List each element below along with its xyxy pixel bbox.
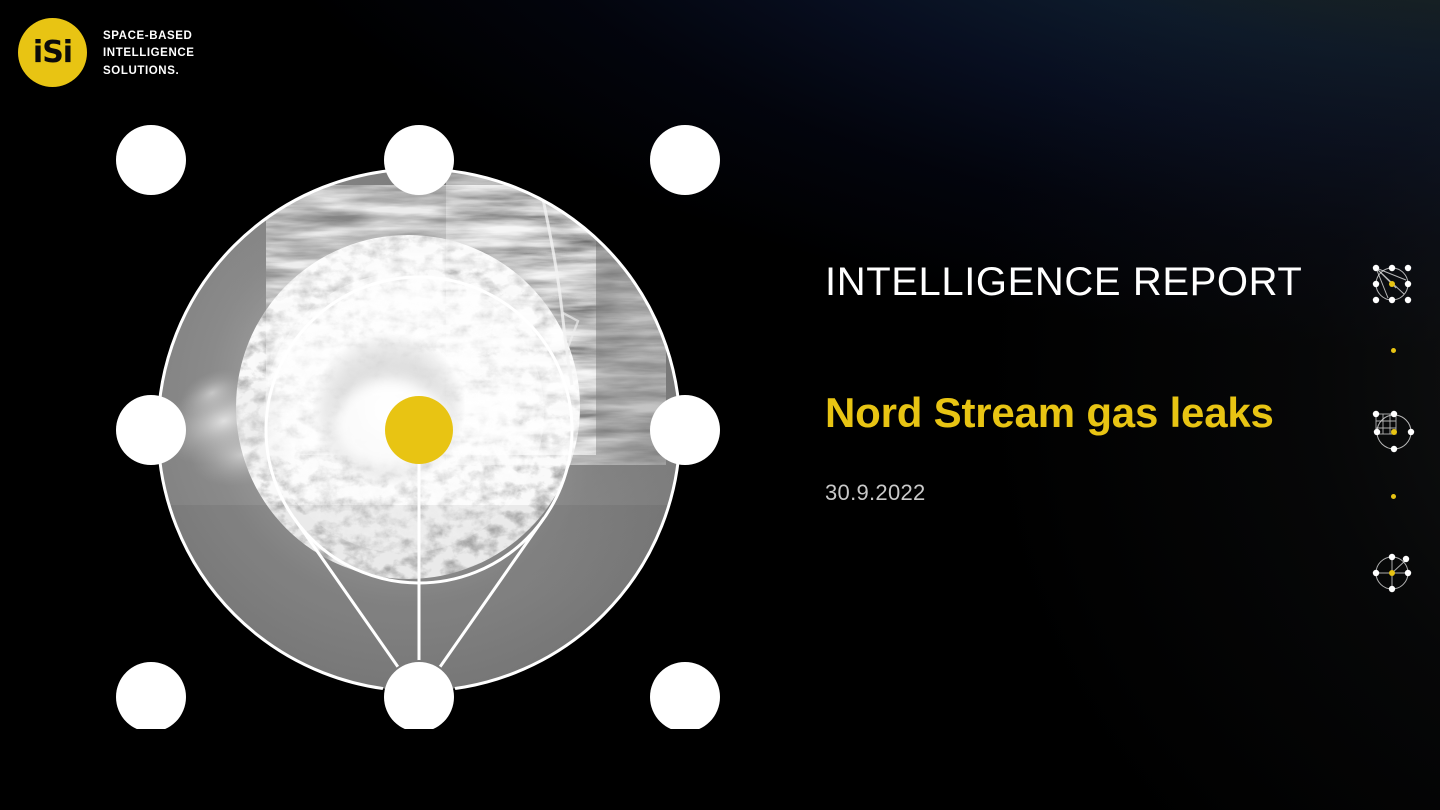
selection-handles-diagonal-icon[interactable] [1366, 258, 1418, 310]
handle-bottom-right[interactable] [650, 662, 720, 729]
report-text-column: INTELLIGENCE REPORT Nord Stream gas leak… [825, 260, 1345, 506]
report-date: 30.9.2022 [825, 480, 1345, 506]
accent-dot-icon [1391, 494, 1396, 499]
report-title: Nord Stream gas leaks [825, 390, 1345, 436]
handle-bottom-center[interactable] [384, 662, 454, 729]
handle-middle-left[interactable] [116, 395, 186, 465]
nord-stream-leak-satellite-graphic[interactable] [116, 125, 720, 729]
handle-top-right[interactable] [650, 125, 720, 195]
isi-logo-icon: iSi [18, 18, 87, 87]
leak-centre-marker[interactable] [385, 396, 453, 464]
handle-bottom-left[interactable] [116, 662, 186, 729]
handle-top-left[interactable] [116, 125, 186, 195]
handle-middle-right[interactable] [650, 395, 720, 465]
selection-handles-grid-icon[interactable] [1366, 404, 1418, 456]
edge-marker-column [1366, 258, 1418, 598]
isi-logo-glyph: iSi [18, 18, 87, 87]
report-kicker: INTELLIGENCE REPORT [825, 260, 1345, 304]
brand-tagline: SPACE-BASED INTELLIGENCE SOLUTIONS. [103, 18, 195, 80]
selection-handles-crosshair-icon[interactable] [1366, 546, 1418, 598]
brand-lockup: iSi SPACE-BASED INTELLIGENCE SOLUTIONS. [18, 18, 195, 87]
slide-root: iSi SPACE-BASED INTELLIGENCE SOLUTIONS. [0, 0, 1440, 810]
accent-dot-icon [1391, 348, 1396, 353]
handle-top-center[interactable] [384, 125, 454, 195]
